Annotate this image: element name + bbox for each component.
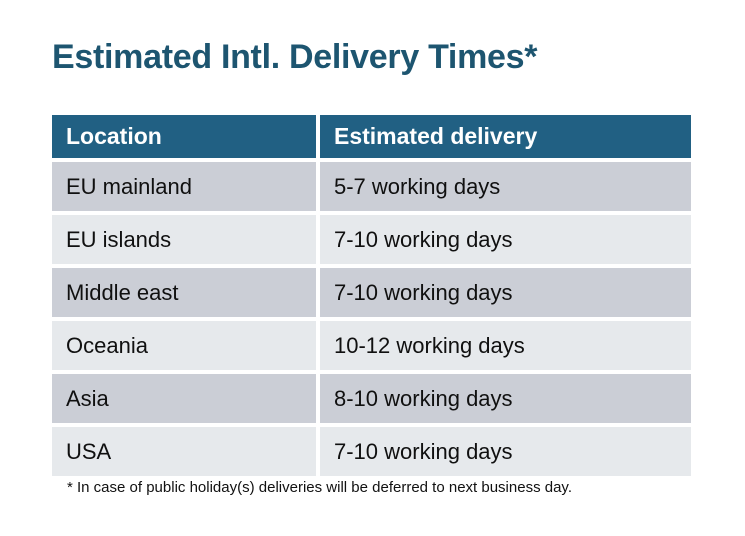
table-row: Oceania 10-12 working days: [52, 321, 691, 370]
cell-location: Asia: [52, 374, 316, 423]
cell-location: Oceania: [52, 321, 316, 370]
column-header-estimated-delivery: Estimated delivery: [320, 115, 691, 158]
table-row: Asia 8-10 working days: [52, 374, 691, 423]
table-row: USA 7-10 working days: [52, 427, 691, 476]
cell-location: USA: [52, 427, 316, 476]
cell-estimated-delivery: 7-10 working days: [320, 268, 691, 317]
cell-location: EU mainland: [52, 162, 316, 211]
table-row: EU islands 7-10 working days: [52, 215, 691, 264]
footnote-text: * In case of public holiday(s) deliverie…: [67, 478, 572, 498]
cell-estimated-delivery: 10-12 working days: [320, 321, 691, 370]
cell-estimated-delivery: 7-10 working days: [320, 427, 691, 476]
table-row: Middle east 7-10 working days: [52, 268, 691, 317]
delivery-times-table: Location Estimated delivery EU mainland …: [52, 115, 691, 476]
cell-estimated-delivery: 8-10 working days: [320, 374, 691, 423]
page-title: Estimated Intl. Delivery Times*: [52, 36, 537, 78]
cell-estimated-delivery: 5-7 working days: [320, 162, 691, 211]
cell-location: EU islands: [52, 215, 316, 264]
column-header-location: Location: [52, 115, 316, 158]
cell-location: Middle east: [52, 268, 316, 317]
table-row: EU mainland 5-7 working days: [52, 162, 691, 211]
table-header-row: Location Estimated delivery: [52, 115, 691, 158]
cell-estimated-delivery: 7-10 working days: [320, 215, 691, 264]
delivery-times-card: Estimated Intl. Delivery Times* Location…: [0, 0, 745, 536]
